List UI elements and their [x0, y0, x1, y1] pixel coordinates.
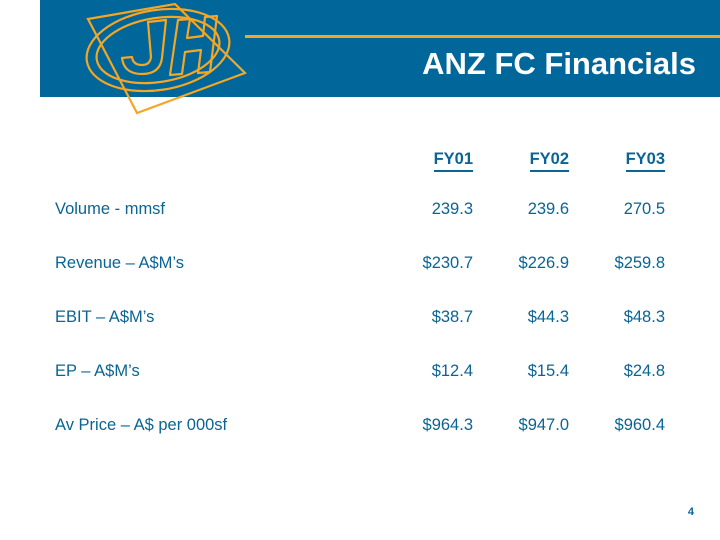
column-header-fy03-label: FY03 [626, 150, 665, 172]
cell-ebit-fy01: $38.7 [377, 290, 473, 344]
row-label-volume: Volume - mmsf [55, 182, 377, 236]
cell-revenue-fy02: $226.9 [473, 236, 569, 290]
column-header-fy03: FY03 [569, 140, 665, 182]
cell-volume-fy01: 239.3 [377, 182, 473, 236]
cell-ep-fy02: $15.4 [473, 344, 569, 398]
cell-av-price-fy01: $964.3 [377, 398, 473, 452]
cell-ebit-fy03: $48.3 [569, 290, 665, 344]
table-row: EBIT – A$M’s $38.7 $44.3 $48.3 [55, 290, 665, 344]
page-number: 4 [688, 506, 694, 518]
cell-revenue-fy03: $259.8 [569, 236, 665, 290]
row-label-ebit: EBIT – A$M’s [55, 290, 377, 344]
financials-table: FY01 FY02 FY03 Volume - mmsf 239.3 239.6… [55, 140, 665, 452]
cell-av-price-fy02: $947.0 [473, 398, 569, 452]
cell-ep-fy03: $24.8 [569, 344, 665, 398]
row-label-av-price: Av Price – A$ per 000sf [55, 398, 377, 452]
header-accent-rule [245, 35, 720, 38]
page-title: ANZ FC Financials [422, 46, 696, 82]
column-header-fy01-label: FY01 [434, 150, 473, 172]
table-row: EP – A$M’s $12.4 $15.4 $24.8 [55, 344, 665, 398]
table-row: Volume - mmsf 239.3 239.6 270.5 [55, 182, 665, 236]
column-header-fy02: FY02 [473, 140, 569, 182]
table-row: Av Price – A$ per 000sf $964.3 $947.0 $9… [55, 398, 665, 452]
column-header-fy02-label: FY02 [530, 150, 569, 172]
column-header-fy01: FY01 [377, 140, 473, 182]
cell-ep-fy01: $12.4 [377, 344, 473, 398]
table-header-row: FY01 FY02 FY03 [55, 140, 665, 182]
cell-volume-fy03: 270.5 [569, 182, 665, 236]
row-label-revenue: Revenue – A$M’s [55, 236, 377, 290]
column-header-metric [55, 140, 377, 182]
cell-ebit-fy02: $44.3 [473, 290, 569, 344]
table-row: Revenue – A$M’s $230.7 $226.9 $259.8 [55, 236, 665, 290]
cell-av-price-fy03: $960.4 [569, 398, 665, 452]
cell-revenue-fy01: $230.7 [377, 236, 473, 290]
cell-volume-fy02: 239.6 [473, 182, 569, 236]
row-label-ep: EP – A$M’s [55, 344, 377, 398]
